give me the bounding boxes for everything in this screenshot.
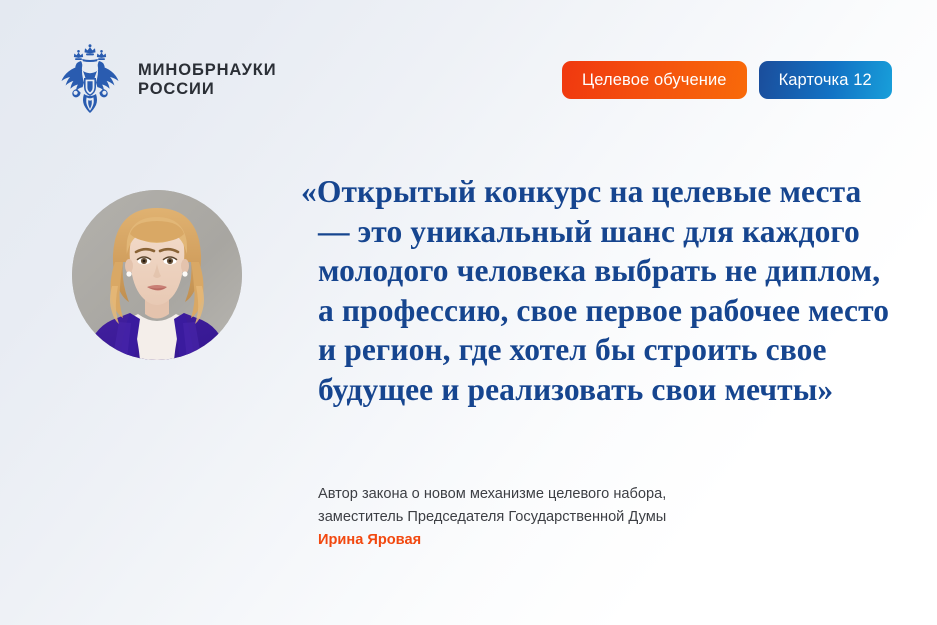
- avatar: [72, 190, 242, 360]
- info-card: МИНОБРНАУКИ РОССИИ Целевое обучение Карт…: [0, 0, 937, 625]
- attribution-line1: Автор закона о новом механизме целевого …: [318, 486, 666, 502]
- brand-wordmark-line1: МИНОБРНАУКИ: [138, 61, 277, 80]
- attribution: Автор закона о новом механизме целевого …: [318, 483, 788, 552]
- quote-text: «Открытый конкурс на целевые места — это…: [318, 172, 898, 409]
- brand-wordmark: МИНОБРНАУКИ РОССИИ: [138, 61, 277, 99]
- badge-group: Целевое обучение Карточка 12: [562, 61, 892, 99]
- attribution-name: Ирина Яровая: [318, 529, 788, 552]
- card-number-badge: Карточка 12: [759, 61, 892, 99]
- attribution-line2: заместитель Председателя Государственной…: [318, 509, 666, 525]
- topic-badge: Целевое обучение: [562, 61, 747, 99]
- brand-lockup: МИНОБРНАУКИ РОССИИ: [56, 44, 277, 116]
- brand-wordmark-line2: РОССИИ: [138, 80, 277, 99]
- russian-double-headed-eagle-emblem-icon: [56, 44, 124, 116]
